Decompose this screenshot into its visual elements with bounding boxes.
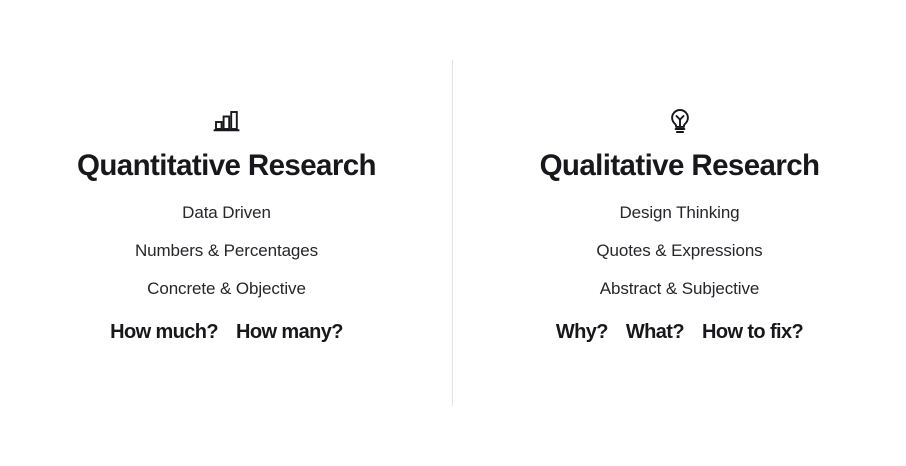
question-label: How much? bbox=[110, 322, 218, 342]
question-label: How many? bbox=[236, 322, 343, 342]
question-row-quantitative: How much? How many? bbox=[110, 322, 343, 342]
list-item: Design Thinking bbox=[619, 204, 739, 221]
column-divider bbox=[452, 60, 453, 406]
comparison-board: Quantitative Research Data Driven Number… bbox=[0, 0, 906, 466]
list-item: Concrete & Objective bbox=[147, 280, 306, 297]
bar-chart-icon bbox=[210, 104, 244, 138]
page-title-qualitative: Qualitative Research bbox=[540, 150, 820, 182]
column-qualitative: Qualitative Research Design Thinking Quo… bbox=[453, 0, 906, 466]
question-row-qualitative: Why? What? How to fix? bbox=[556, 322, 803, 342]
attribute-list-qualitative: Design Thinking Quotes & Expressions Abs… bbox=[596, 204, 762, 297]
question-label: How to fix? bbox=[702, 322, 803, 342]
list-item: Abstract & Subjective bbox=[600, 280, 759, 297]
column-quantitative: Quantitative Research Data Driven Number… bbox=[0, 0, 453, 466]
question-label: Why? bbox=[556, 322, 608, 342]
attribute-list-quantitative: Data Driven Numbers & Percentages Concre… bbox=[135, 204, 318, 297]
list-item: Quotes & Expressions bbox=[596, 242, 762, 259]
list-item: Data Driven bbox=[182, 204, 271, 221]
lightbulb-icon bbox=[663, 104, 697, 138]
page-title-quantitative: Quantitative Research bbox=[77, 150, 376, 182]
list-item: Numbers & Percentages bbox=[135, 242, 318, 259]
question-label: What? bbox=[626, 322, 684, 342]
